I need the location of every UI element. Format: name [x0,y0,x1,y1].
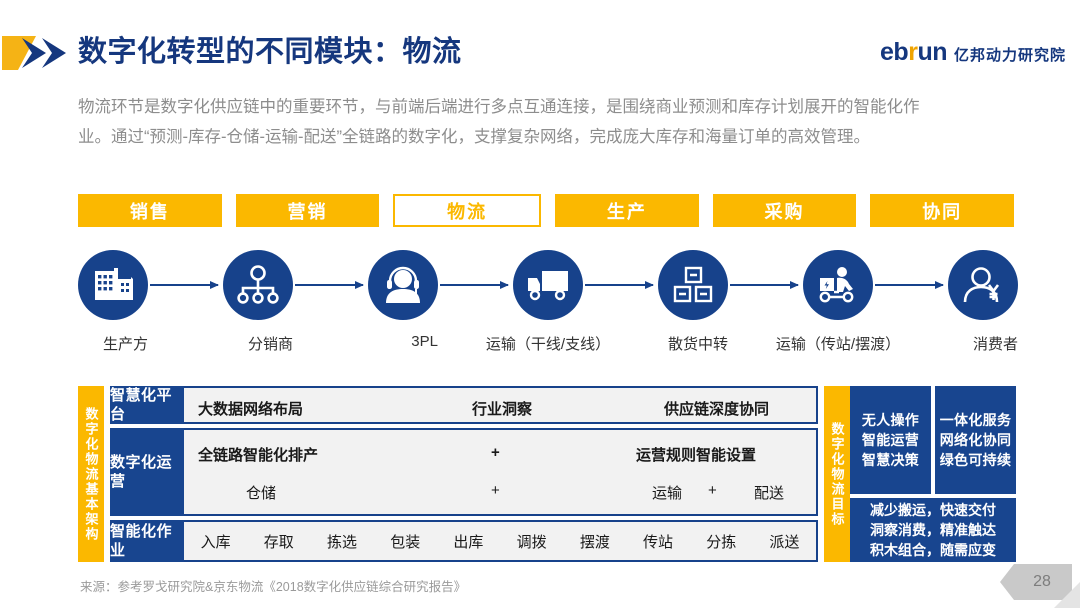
row-header-platform: 智慧化平台 [110,386,184,424]
cell-big-data-network: 大数据网络布局 [198,398,303,419]
flow-connector-2 [295,284,363,286]
flow-node-consumer[interactable]: 消费者 [948,250,1018,354]
flow-node-label: 3PL [411,333,438,350]
goal-line: 智能运营 [862,430,919,450]
slide-root: 数字化转型的不同模块：物流 ebrun 亿邦动力研究院 物流环节是数字化供应链中… [0,0,1080,608]
op-transfer: 调拨 [500,531,563,552]
page-title: 数字化转型的不同模块：物流 [78,28,462,70]
matrix-row-platform: 智慧化平台 大数据网络布局 行业洞察 供应链深度协同 [110,386,818,424]
headset-agent-icon [368,250,438,320]
flow-node-label: 生产方 [103,333,148,354]
goal-box-integration: 一体化服务 网络化协同 绿色可持续 [935,386,1016,494]
op-relay: 传站 [626,531,689,552]
matrix-row-operations-tasks: 智能化作业 入库 存取 拣选 包装 出库 调拨 摆渡 传站 分拣 派送 [110,520,818,562]
cell-full-chain-scheduling: 全链路智能化排产 [198,444,318,465]
matrix-rows: 智慧化平台 大数据网络布局 行业洞察 供应链深度协同 数字化运营 全链路智能化排… [110,386,818,562]
logistics-flow-diagram: 生产方 分销商 [78,250,1018,368]
consumer-yuan-icon [948,250,1018,320]
intro-paragraph: 物流环节是数字化供应链中的重要环节，与前端后端进行多点互通连接，是围绕商业预测和… [78,92,1026,152]
slide-header: 数字化转型的不同模块：物流 ebrun 亿邦动力研究院 [0,26,1080,80]
brand-logo: ebrun 亿邦动力研究院 [880,38,1066,67]
boxes-icon [658,250,728,320]
op-inbound: 入库 [184,531,247,552]
tab-logistics[interactable]: 物流 [393,194,541,227]
cell-transport: 运输 [652,482,682,503]
op-picking: 拣选 [310,531,373,552]
cell-warehousing: 仓储 [246,482,276,503]
goal-summary-line: 减少搬运，快速交付 [870,500,996,520]
tab-procurement[interactable]: 采购 [713,194,857,227]
flow-node-label: 散货中转 [668,333,728,354]
logo-chinese-name: 亿邦动力研究院 [954,44,1066,65]
row-header-operations: 数字化运营 [110,428,184,516]
goal-line: 无人操作 [862,410,919,430]
source-note: 来源：参考罗戈研究院&京东物流《2018数字化供应链综合研究报告》 [80,576,466,595]
op-sorting: 分拣 [690,531,753,552]
intro-line-1: 物流环节是数字化供应链中的重要环节，与前端后端进行多点互通连接，是围绕商业预测和… [78,92,1026,122]
flow-node-label: 运输（干线/支线） [486,333,610,354]
cell-industry-insight: 行业洞察 [472,398,532,419]
flow-node-bulk-transfer[interactable]: 散货中转 [658,250,728,354]
arrow-bullet-icon [2,30,70,76]
op-dispatch: 派送 [753,531,816,552]
logo-wordmark: ebrun [880,38,947,67]
corner-decoration [1054,582,1080,608]
delivery-scooter-icon [803,250,873,320]
distribution-network-icon [223,250,293,320]
row-body-platform: 大数据网络布局 行业洞察 供应链深度协同 [184,386,818,424]
logo-part-un: un [917,38,947,66]
flow-node-distributor[interactable]: 分销商 [223,250,293,354]
cell-plus-mid: + [491,482,500,499]
flow-node-label: 运输（传站/摆渡） [776,333,900,354]
flow-connector-5 [730,284,798,286]
tab-marketing[interactable]: 营销 [236,194,380,227]
tab-collaboration[interactable]: 协同 [870,194,1014,227]
goal-box-automation: 无人操作 智能运营 智慧决策 [850,386,931,494]
row-header-label: 智能化作业 [110,522,184,560]
goal-line: 绿色可持续 [940,450,1012,470]
goal-line: 网络化协同 [940,430,1012,450]
flow-node-3pl[interactable]: 3PL [368,250,438,351]
op-ferry: 摆渡 [563,531,626,552]
flow-connector-1 [150,284,218,286]
logistics-architecture-matrix: 数字化物流基本架构 数字化物流目标 智慧化平台 大数据网络布局 行业洞察 供应链… [78,386,1016,562]
goal-summary-box: 减少搬运，快速交付 洞察消费，精准触达 积木组合，随需应变 [850,498,1016,562]
cell-operation-rules: 运营规则智能设置 [636,444,756,465]
goal-summary-line: 洞察消费，精准触达 [870,520,996,540]
intro-line-2: 业。通过“预测-库存-仓储-运输-配送”全链路的数字化，支撑复杂网络，完成庞大库… [78,122,1026,152]
goal-summary-line: 积木组合，随需应变 [870,540,996,560]
goal-line: 一体化服务 [940,410,1012,430]
tab-sales[interactable]: 销售 [78,194,222,227]
row-header-label: 数字化运营 [110,453,184,491]
flow-connector-6 [875,284,943,286]
op-storage: 存取 [247,531,310,552]
flow-node-trunk-transport[interactable]: 运输（干线/支线） [513,250,583,354]
operations-list: 入库 存取 拣选 包装 出库 调拨 摆渡 传站 分拣 派送 [184,522,816,560]
goal-line: 智慧决策 [862,450,919,470]
flow-node-label: 消费者 [973,333,1018,354]
module-tabs: 销售 营销 物流 生产 采购 协同 [78,194,1014,227]
flow-connector-4 [585,284,653,286]
truck-icon [513,250,583,320]
flow-node-label: 分销商 [248,333,293,354]
matrix-left-axis-label: 数字化物流基本架构 [78,386,104,562]
row-header-label: 智慧化平台 [110,386,184,424]
flow-node-producer[interactable]: 生产方 [78,250,148,354]
cell-supply-chain-collab: 供应链深度协同 [664,398,769,419]
op-packing: 包装 [374,531,437,552]
cell-plus-top: + [491,444,500,461]
matrix-row-operations: 数字化运营 全链路智能化排产 + 运营规则智能设置 仓储 + 运输 + 配送 [110,428,818,516]
goal-top-row: 无人操作 智能运营 智慧决策 一体化服务 网络化协同 绿色可持续 [850,386,1016,494]
logo-part-eb: eb [880,38,908,66]
cell-delivery: 配送 [754,482,784,503]
op-outbound: 出库 [437,531,500,552]
goal-panel: 无人操作 智能运营 智慧决策 一体化服务 网络化协同 绿色可持续 减少搬运，快速… [850,386,1016,562]
row-header-tasks: 智能化作业 [110,520,184,562]
cell-plus-right: + [708,482,717,499]
tab-production[interactable]: 生产 [555,194,699,227]
row-body-operations: 全链路智能化排产 + 运营规则智能设置 仓储 + 运输 + 配送 [184,428,818,516]
flow-node-last-mile-transport[interactable]: 运输（传站/摆渡） [803,250,873,354]
flow-connector-3 [440,284,508,286]
factory-buildings-icon [78,250,148,320]
row-body-tasks: 入库 存取 拣选 包装 出库 调拨 摆渡 传站 分拣 派送 [184,520,818,562]
matrix-right-axis-label: 数字化物流目标 [824,386,850,562]
